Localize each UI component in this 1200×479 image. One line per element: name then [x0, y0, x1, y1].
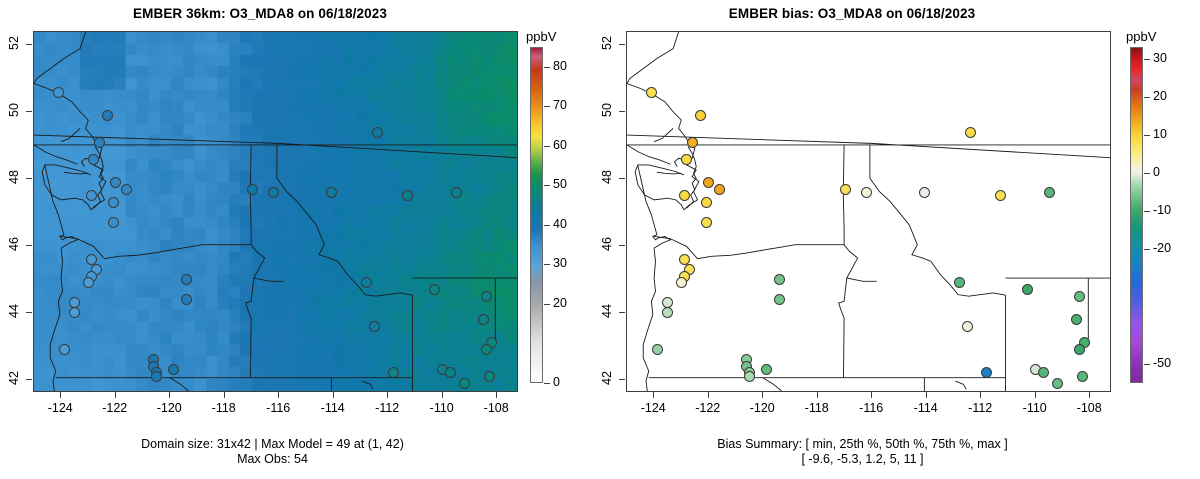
observation-point	[965, 127, 976, 138]
x-axis-label: -110	[419, 401, 465, 415]
observation-point	[484, 371, 495, 382]
map-boundaries-bias	[627, 32, 1110, 391]
x-axis-tick	[115, 392, 116, 398]
x-axis-tick	[871, 392, 872, 398]
colorbar-label: 50	[553, 177, 567, 191]
y-axis-tick	[619, 379, 625, 380]
x-axis-label: -114	[310, 401, 356, 415]
observation-point	[774, 274, 785, 285]
colorbar-tick	[1144, 364, 1150, 365]
model-colorbar-gradient	[530, 47, 543, 383]
observation-point	[679, 190, 690, 201]
observation-point	[361, 277, 372, 288]
y-axis-label: 48	[7, 162, 21, 192]
colorbar-tick	[1144, 173, 1150, 174]
observation-point	[981, 367, 992, 378]
colorbar-label: -10	[1153, 203, 1171, 217]
observation-point	[151, 371, 162, 382]
x-axis-tick	[1089, 392, 1090, 398]
observation-point	[181, 294, 192, 305]
colorbar-label: 40	[553, 217, 567, 231]
x-axis-tick	[278, 392, 279, 398]
y-axis-tick	[26, 178, 32, 179]
colorbar-tick	[1144, 59, 1150, 60]
right-panel-title: EMBER bias: O3_MDA8 on 06/18/2023	[592, 6, 1112, 21]
y-axis-label: 46	[7, 229, 21, 259]
colorbar-tick	[544, 67, 550, 68]
observation-point	[94, 137, 105, 148]
colorbar-label: 20	[1153, 89, 1167, 103]
x-axis-tick	[442, 392, 443, 398]
y-axis-tick	[619, 178, 625, 179]
colorbar-label: 0	[553, 375, 560, 389]
y-axis-label: 50	[600, 95, 614, 125]
colorbar-label: -20	[1153, 241, 1171, 255]
y-axis-label: 52	[600, 28, 614, 58]
observation-point	[181, 274, 192, 285]
x-axis-tick	[1035, 392, 1036, 398]
y-axis-tick	[619, 111, 625, 112]
y-axis-tick	[26, 312, 32, 313]
x-axis-label: -124	[37, 401, 83, 415]
observation-point	[861, 187, 872, 198]
x-axis-tick	[496, 392, 497, 398]
colorbar-tick	[1144, 97, 1150, 98]
observation-point	[108, 197, 119, 208]
model-colorbar-title: ppbV	[526, 29, 556, 44]
observation-point	[714, 184, 725, 195]
y-axis-tick	[26, 111, 32, 112]
y-axis-label: 42	[600, 363, 614, 393]
observation-point	[429, 284, 440, 295]
colorbar-label: 20	[553, 296, 567, 310]
observation-point	[695, 110, 706, 121]
observation-point	[247, 184, 258, 195]
colorbar-label: 0	[1153, 165, 1160, 179]
x-axis-label: -110	[1012, 401, 1058, 415]
colorbar-label: 80	[553, 59, 567, 73]
bias-caption-line1: Bias Summary: [ min, 25th %, 50th %, 75t…	[590, 437, 1135, 452]
observation-point	[701, 197, 712, 208]
x-axis-label: -118	[201, 401, 247, 415]
x-axis-tick	[387, 392, 388, 398]
x-axis-tick	[926, 392, 927, 398]
y-axis-tick	[26, 44, 32, 45]
observation-point	[954, 277, 965, 288]
y-axis-tick	[619, 312, 625, 313]
colorbar-label: 30	[553, 256, 567, 270]
observation-point	[646, 87, 657, 98]
x-axis-label: -118	[794, 401, 840, 415]
left-panel-title: EMBER 36km: O3_MDA8 on 06/18/2023	[0, 6, 520, 21]
bias-map-frame: AQS	[626, 31, 1111, 392]
y-axis-label: 48	[600, 162, 614, 192]
model-caption-line2: Max Obs: 54	[0, 452, 545, 467]
x-axis-tick	[653, 392, 654, 398]
observation-point	[652, 344, 663, 355]
x-axis-label: -120	[739, 401, 785, 415]
observation-point	[86, 190, 97, 201]
x-axis-tick	[333, 392, 334, 398]
observation-point	[774, 294, 785, 305]
observation-point	[481, 344, 492, 355]
observation-point	[1038, 367, 1049, 378]
colorbar-tick	[544, 264, 550, 265]
observation-point	[681, 154, 692, 165]
observation-point	[995, 190, 1006, 201]
observation-point	[701, 217, 712, 228]
x-axis-tick	[708, 392, 709, 398]
colorbar-tick	[1144, 249, 1150, 250]
x-axis-label: -122	[92, 401, 138, 415]
y-axis-tick	[619, 245, 625, 246]
colorbar-tick	[544, 383, 550, 384]
colorbar-tick	[544, 225, 550, 226]
x-axis-label: -108	[473, 401, 519, 415]
model-caption-line1: Domain size: 31x42 | Max Model = 49 at (…	[0, 437, 545, 452]
y-axis-tick	[26, 245, 32, 246]
colorbar-tick	[544, 304, 550, 305]
observation-point	[369, 321, 380, 332]
colorbar-label: 10	[1153, 127, 1167, 141]
x-axis-label: -112	[364, 401, 410, 415]
x-axis-tick	[224, 392, 225, 398]
observation-point	[168, 364, 179, 375]
observation-point	[53, 87, 64, 98]
observation-point	[703, 177, 714, 188]
colorbar-label: 70	[553, 98, 567, 112]
colorbar-tick	[544, 106, 550, 107]
model-map-frame: AQS	[33, 31, 518, 392]
observation-point	[108, 217, 119, 228]
observation-point	[110, 177, 121, 188]
observation-point	[761, 364, 772, 375]
observation-point	[59, 344, 70, 355]
y-axis-tick	[619, 44, 625, 45]
observation-point	[1074, 344, 1085, 355]
observation-point	[676, 277, 687, 288]
y-axis-label: 44	[7, 296, 21, 326]
colorbar-tick	[544, 185, 550, 186]
colorbar-tick	[544, 146, 550, 147]
observation-point	[840, 184, 851, 195]
x-axis-label: -120	[146, 401, 192, 415]
bias-colorbar-title: ppbV	[1126, 29, 1156, 44]
observation-point	[1044, 187, 1055, 198]
observation-point	[459, 378, 470, 389]
x-axis-label: -108	[1066, 401, 1112, 415]
x-axis-tick	[980, 392, 981, 398]
observation-point	[326, 187, 337, 198]
observation-point	[744, 371, 755, 382]
y-axis-tick	[26, 379, 32, 380]
x-axis-label: -116	[848, 401, 894, 415]
y-axis-label: 46	[600, 229, 614, 259]
x-axis-label: -116	[255, 401, 301, 415]
x-axis-tick	[169, 392, 170, 398]
x-axis-tick	[60, 392, 61, 398]
observation-point	[687, 137, 698, 148]
observation-point	[121, 184, 132, 195]
y-axis-label: 50	[7, 95, 21, 125]
colorbar-label: -50	[1153, 356, 1171, 370]
observation-point	[1052, 378, 1063, 389]
observation-point	[1071, 314, 1082, 325]
colorbar-label: 30	[1153, 51, 1167, 65]
observation-point	[451, 187, 462, 198]
observation-point	[962, 321, 973, 332]
y-axis-label: 52	[7, 28, 21, 58]
observation-point	[1022, 284, 1033, 295]
model-raster	[34, 32, 517, 391]
model-panel: EMBER 36km: O3_MDA8 on 06/18/2023 AQS -1…	[0, 0, 600, 479]
observation-point	[919, 187, 930, 198]
observation-point	[662, 307, 673, 318]
colorbar-tick	[1144, 135, 1150, 136]
y-axis-label: 44	[600, 296, 614, 326]
y-axis-label: 42	[7, 363, 21, 393]
observation-point	[1077, 371, 1088, 382]
x-axis-label: -122	[685, 401, 731, 415]
observation-point	[372, 127, 383, 138]
observation-point	[1074, 291, 1085, 302]
x-axis-label: -124	[630, 401, 676, 415]
x-axis-label: -114	[903, 401, 949, 415]
x-axis-tick	[817, 392, 818, 398]
colorbar-tick	[1144, 211, 1150, 212]
bias-panel: EMBER bias: O3_MDA8 on 06/18/2023 AQS -1…	[600, 0, 1200, 479]
observation-point	[481, 291, 492, 302]
x-axis-tick	[762, 392, 763, 398]
observation-point	[88, 154, 99, 165]
colorbar-label: 60	[553, 138, 567, 152]
bias-colorbar-gradient	[1130, 47, 1143, 383]
x-axis-label: -112	[957, 401, 1003, 415]
bias-caption-line2: [ -9.6, -5.3, 1.2, 5, 11 ]	[590, 452, 1135, 467]
